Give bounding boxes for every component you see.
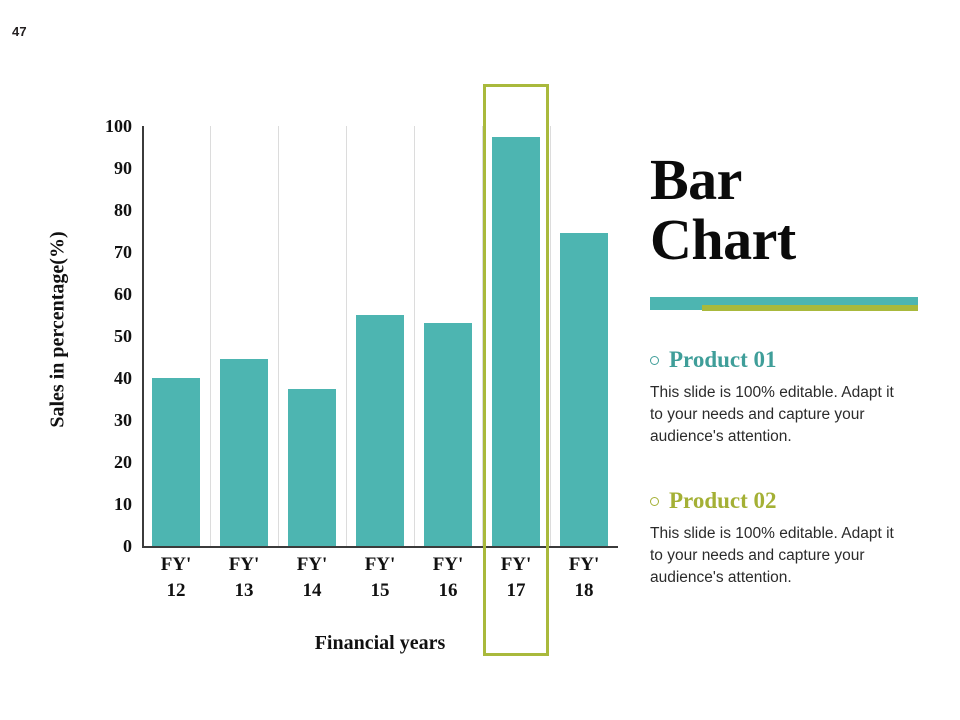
x-axis-tick-label-line: 16 [414,578,482,604]
bar [220,359,269,546]
right-panel: Bar Chart Product 01 This slide is 100% … [650,150,940,589]
x-axis-tick-label-line: FY' [346,552,414,578]
chart-gridline [414,126,415,546]
bar [560,233,609,546]
bar [356,315,405,546]
chart-gridline [278,126,279,546]
x-axis-tick-label-line: FY' [142,552,210,578]
divider-olive-bar [702,305,918,311]
product-01-body: This slide is 100% editable. Adapt it to… [650,382,905,448]
y-axis-tick-label: 80 [82,201,132,219]
y-axis-tick-label: 70 [82,243,132,261]
y-axis-tick-labels: 1009080706050403020100 [82,126,132,546]
x-axis-tick-label: FY'14 [278,552,346,604]
x-axis-title: Financial years [142,632,618,655]
y-axis-tick-label: 40 [82,369,132,387]
circle-bullet-icon [650,497,659,506]
y-axis-tick-label: 10 [82,495,132,513]
chart-gridline [550,126,551,546]
y-axis-title: Sales in percentage(%) [47,205,70,455]
x-axis-tick-label-line: FY' [210,552,278,578]
x-axis-tick-label-line: 15 [346,578,414,604]
x-axis-tick-label-line: FY' [278,552,346,578]
chart-gridline [346,126,347,546]
x-axis-tick-label-line: 17 [482,578,550,604]
bar-chart: Sales in percentage(%) 10090807060504030… [0,86,640,666]
product-02-heading-label: Product 02 [669,488,777,514]
plot-area [142,126,618,546]
page-title-line-1: Bar [650,150,940,210]
y-axis-tick-label: 60 [82,285,132,303]
x-axis-tick-label: FY'13 [210,552,278,604]
x-axis-tick-label: FY'16 [414,552,482,604]
bar [424,323,473,546]
chart-gridline [210,126,211,546]
x-axis-tick-label-line: 12 [142,578,210,604]
product-01-heading: Product 01 [650,347,940,373]
product-02-body: This slide is 100% editable. Adapt it to… [650,523,905,589]
x-axis-tick-label: FY'12 [142,552,210,604]
bar [288,389,337,547]
circle-bullet-icon [650,356,659,365]
x-axis-tick-label: FY'15 [346,552,414,604]
product-01-heading-label: Product 01 [669,347,777,373]
page-title-line-2: Chart [650,210,940,270]
title-divider [650,295,918,311]
y-axis-tick-label: 90 [82,159,132,177]
bar [152,378,201,546]
x-axis-tick-label-line: 14 [278,578,346,604]
divider-teal-cap [650,297,704,310]
y-axis-tick-label: 100 [82,117,132,135]
product-block-02: Product 02 This slide is 100% editable. … [650,488,940,589]
page-number: 47 [12,24,27,39]
y-axis-tick-label: 30 [82,411,132,429]
y-axis-line [142,126,144,547]
y-axis-tick-label: 0 [82,537,132,555]
x-axis-tick-label-line: 18 [550,578,618,604]
x-axis-tick-label-line: FY' [550,552,618,578]
product-block-01: Product 01 This slide is 100% editable. … [650,347,940,448]
x-axis-tick-label: FY'17 [482,552,550,604]
x-axis-tick-label-line: 13 [210,578,278,604]
page-title: Bar Chart [650,150,940,271]
y-axis-tick-label: 50 [82,327,132,345]
x-axis-tick-label: FY'18 [550,552,618,604]
product-02-heading: Product 02 [650,488,940,514]
x-axis-tick-label-line: FY' [414,552,482,578]
x-axis-tick-labels: FY'12FY'13FY'14FY'15FY'16FY'17FY'18 [142,552,618,614]
x-axis-tick-label-line: FY' [482,552,550,578]
y-axis-tick-label: 20 [82,453,132,471]
